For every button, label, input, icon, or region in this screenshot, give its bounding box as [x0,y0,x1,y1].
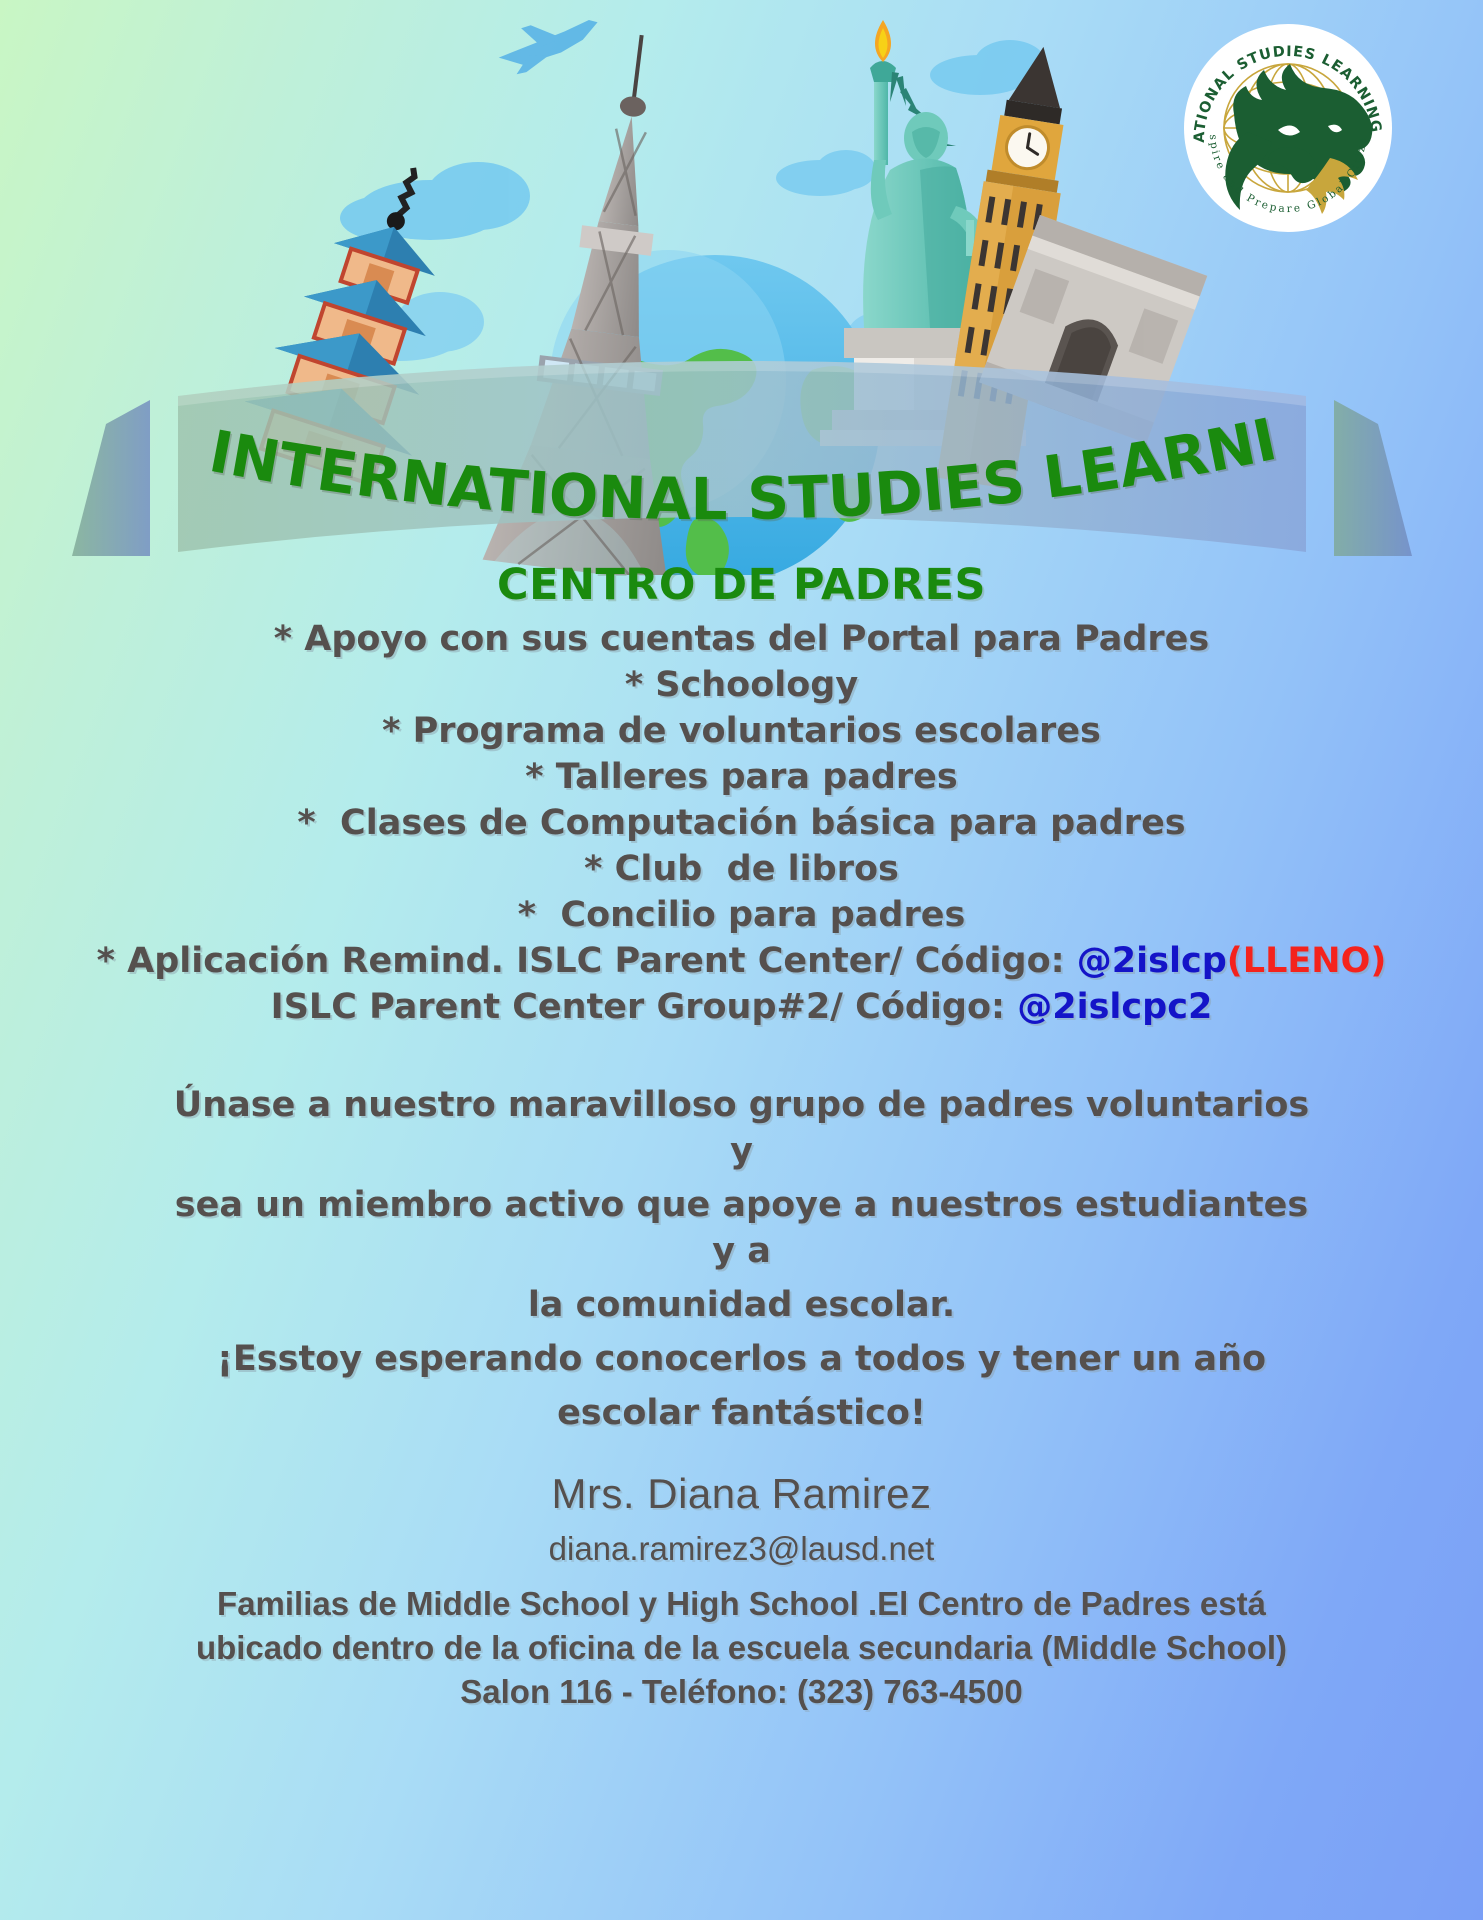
remind-code-1: @2islcp [1077,941,1227,981]
islc-logo: INTERNATIONAL STUDIES LEARNING CENTER In… [1182,22,1394,234]
invitation-paragraph: Únase a nuestro maravilloso grupo de pad… [167,1082,1317,1436]
list-item: * Schoology [0,662,1483,708]
paragraph-line: Únase a nuestro maravilloso grupo de pad… [167,1082,1317,1174]
remind-line-1: * Aplicación Remind. ISLC Parent Center/… [0,938,1483,984]
page-title: CENTRO DE PADRES [0,560,1483,610]
services-list: * Apoyo con sus cuentas del Portal para … [0,616,1483,1030]
contact-name: Mrs. Diana Ramirez [0,1470,1483,1518]
address-line: Salon 116 - Teléfono: (323) 763-4500 [117,1670,1367,1714]
paragraph-line: escolar fantástico! [167,1390,1317,1436]
remind-label-1: * Aplicación Remind. ISLC Parent Center/… [97,941,1077,981]
contact-email[interactable]: diana.ramirez3@lausd.net [0,1530,1483,1568]
paragraph-line: sea un miembro activo que apoye a nuestr… [167,1182,1317,1274]
flyer-content: CENTRO DE PADRES * Apoyo con sus cuentas… [0,560,1483,1714]
address-line: Familias de Middle School y High School … [117,1582,1367,1626]
paragraph-line: la comunidad escolar. [167,1282,1317,1328]
banner-text: INTERNATIONAL STUDIES LEARNING CENTER [0,0,1282,533]
svg-text:INTERNATIONAL STUDIES LEARNING: INTERNATIONAL STUDIES LEARNING CENTER [0,0,1282,533]
remind-line-2: ISLC Parent Center Group#2/ Código: @2is… [0,984,1483,1030]
list-item: * Concilio para padres [0,892,1483,938]
remind-code-2: @2islcpc2 [1017,987,1212,1027]
list-item: * Programa de voluntarios escolares [0,708,1483,754]
contact-address: Familias de Middle School y High School … [117,1582,1367,1714]
remind-status-1: (LLENO) [1227,941,1387,981]
address-line: ubicado dentro de la oficina de la escue… [117,1626,1367,1670]
list-item: * Club de libros [0,846,1483,892]
list-item: * Talleres para padres [0,754,1483,800]
paragraph-line: ¡Esstoy esperando conocerlos a todos y t… [167,1336,1317,1382]
flyer-page: INTERNATIONAL STUDIES LEARNING CENTER [0,0,1483,1920]
list-item: * Apoyo con sus cuentas del Portal para … [0,616,1483,662]
remind-label-2: ISLC Parent Center Group#2/ Código: [271,987,1018,1027]
list-item: * Clases de Computación básica para padr… [0,800,1483,846]
